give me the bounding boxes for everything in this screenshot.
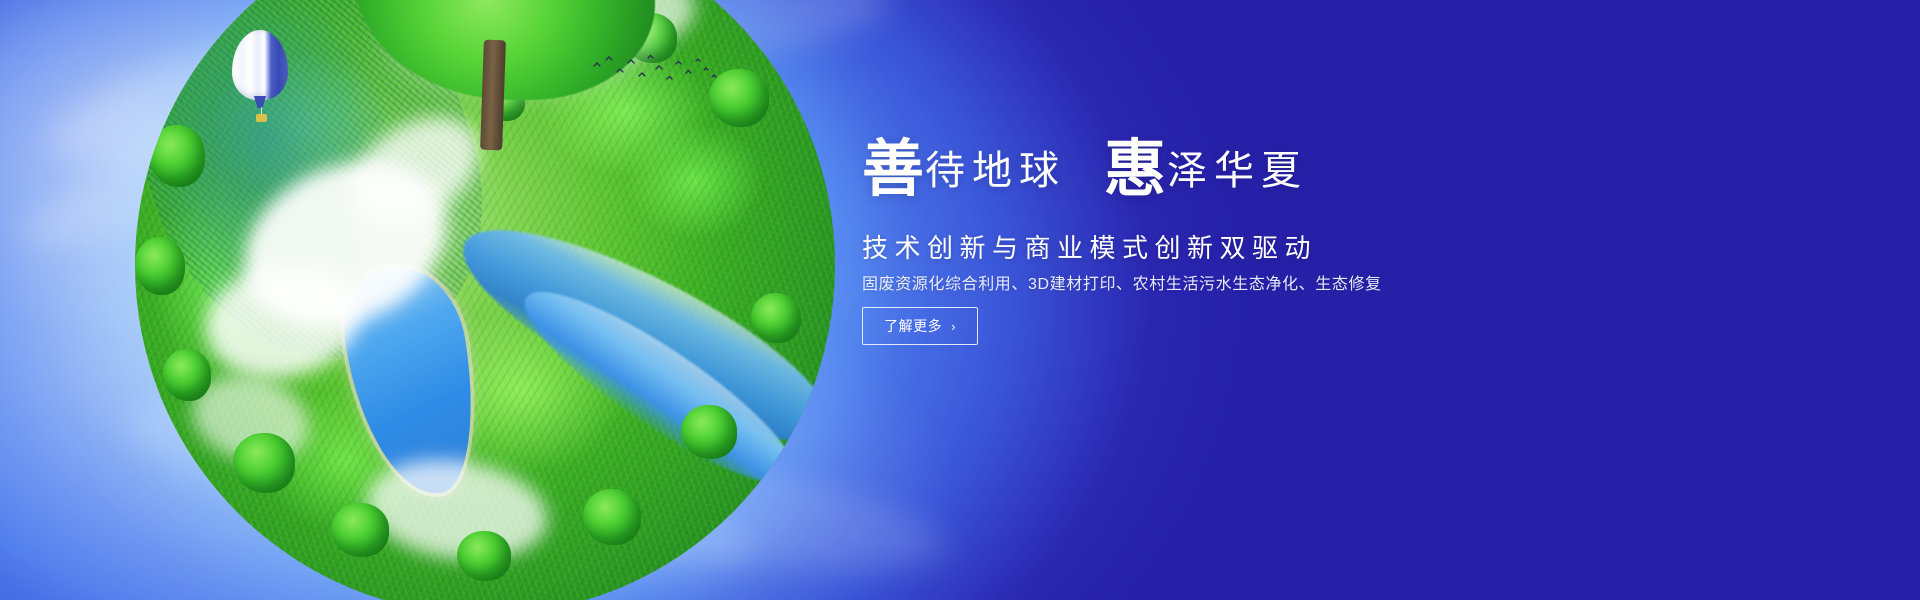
tree-icon <box>149 125 205 187</box>
cloud-streak <box>116 365 765 600</box>
headline-part1-small: 待地球 <box>925 148 1066 194</box>
tree-icon <box>233 433 295 493</box>
tree-icon <box>163 349 211 401</box>
banner-content: 善待地球惠泽华夏 技术创新与商业模式创新双驱动 固废资源化综合利用、3D建材打印… <box>862 0 1762 600</box>
headline-part1-big: 善 <box>862 132 925 205</box>
globe-cloud <box>332 95 499 246</box>
globe-cloud <box>182 362 320 476</box>
learn-more-button[interactable]: 了解更多 › <box>862 307 978 345</box>
globe-lake <box>335 257 489 504</box>
headline-part2-big: 惠 <box>1104 132 1167 205</box>
balloon-envelope <box>232 30 288 100</box>
chevron-right-icon: › <box>951 320 956 333</box>
tree-icon <box>457 531 511 581</box>
hero-banner: 善待地球惠泽华夏 技术创新与商业模式创新双驱动 固废资源化综合利用、3D建材打印… <box>0 0 1920 600</box>
globe-river <box>505 266 815 510</box>
tree-icon <box>583 489 641 545</box>
tree-icon <box>135 237 185 295</box>
banner-description: 固废资源化综合利用、3D建材打印、农村生活污水生态净化、生态修复 <box>862 270 1382 294</box>
balloon-neck <box>254 96 266 108</box>
globe-river <box>440 193 835 477</box>
globe-cloud <box>196 252 367 389</box>
tree-icon <box>751 293 801 343</box>
bird-flock-icon <box>590 52 720 92</box>
page-title: 善待地球惠泽华夏 <box>862 138 1422 200</box>
banner-subtitle: 技术创新与商业模式创新双驱动 <box>862 228 1317 265</box>
globe-cloud <box>218 131 472 357</box>
large-tree-trunk <box>480 40 506 151</box>
tree-icon <box>681 405 737 459</box>
globe-cloud <box>360 449 554 571</box>
learn-more-label: 了解更多 <box>884 316 942 336</box>
headline-part2-small: 泽华夏 <box>1167 148 1308 194</box>
tree-icon <box>331 503 389 557</box>
balloon-basket <box>256 114 267 122</box>
hot-air-balloon-icon <box>232 30 288 126</box>
